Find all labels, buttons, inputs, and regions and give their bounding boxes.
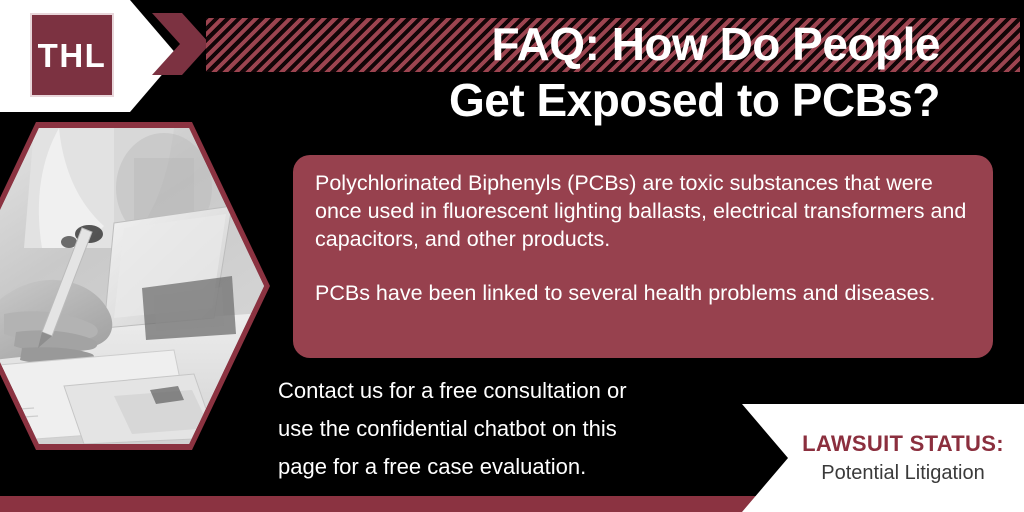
info-paragraph-1: Polychlorinated Biphenyls (PCBs) are tox… (315, 169, 971, 253)
hexagon-photo (0, 122, 270, 450)
info-paragraph-2: PCBs have been linked to several health … (315, 279, 971, 307)
info-card: Polychlorinated Biphenyls (PCBs) are tox… (293, 155, 993, 358)
page-title-line-1: FAQ: How Do People (240, 16, 940, 72)
logo-text: THL (38, 39, 107, 72)
lawsuit-status-value: Potential Litigation (821, 462, 984, 485)
lawsuit-status-banner: LAWSUIT STATUS: Potential Litigation (742, 404, 1024, 512)
page-title-line-2: Get Exposed to PCBs? (240, 72, 940, 128)
contact-line-2: use the confidential chatbot on this (278, 410, 748, 448)
brand-banner: THL (0, 0, 178, 112)
infographic-canvas: THL FAQ: How Do People Get Exposed to PC… (0, 0, 1024, 512)
contact-line-1: Contact us for a free consultation or (278, 372, 748, 410)
lawsuit-status-label: LAWSUIT STATUS: (802, 431, 1004, 456)
document-review-photo-icon (0, 128, 264, 444)
logo-box: THL (30, 13, 114, 97)
contact-text: Contact us for a free consultation or us… (278, 372, 748, 486)
contact-line-3: page for a free case evaluation. (278, 448, 748, 486)
hexagon-photo-image (0, 128, 264, 444)
page-title: FAQ: How Do People Get Exposed to PCBs? (240, 16, 940, 128)
